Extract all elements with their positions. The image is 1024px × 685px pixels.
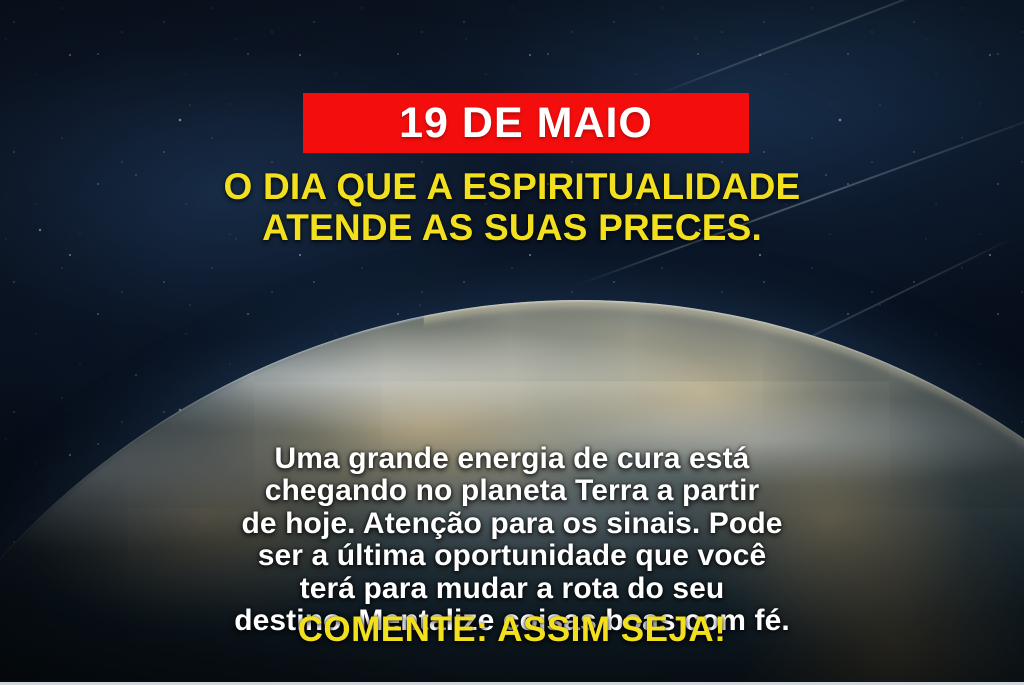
date-banner-label: 19 DE MAIO: [399, 102, 653, 145]
poster-canvas: 19 DE MAIO O DIA QUE A ESPIRITUALIDADE A…: [0, 0, 1024, 685]
body-line-2: chegando no planeta Terra a partir: [62, 475, 962, 507]
body-line-4: ser a última oportunidade que você: [62, 540, 962, 572]
call-to-action-text: COMENTE: ASSIM SEJA!: [0, 612, 1024, 647]
body-line-5: terá para mudar a rota do seu: [62, 573, 962, 605]
poster-content: 19 DE MAIO O DIA QUE A ESPIRITUALIDADE A…: [0, 0, 1024, 682]
body-line-1: Uma grande energia de cura está: [62, 443, 962, 475]
body-copy: Uma grande energia de cura está chegando…: [62, 443, 962, 637]
headline-line-2: ATENDE AS SUAS PRECES.: [0, 207, 1024, 248]
body-line-3: de hoje. Atenção para os sinais. Pode: [62, 508, 962, 540]
date-banner: 19 DE MAIO: [303, 93, 749, 153]
headline-line-1: O DIA QUE A ESPIRITUALIDADE: [0, 166, 1024, 207]
headline: O DIA QUE A ESPIRITUALIDADE ATENDE AS SU…: [0, 166, 1024, 249]
